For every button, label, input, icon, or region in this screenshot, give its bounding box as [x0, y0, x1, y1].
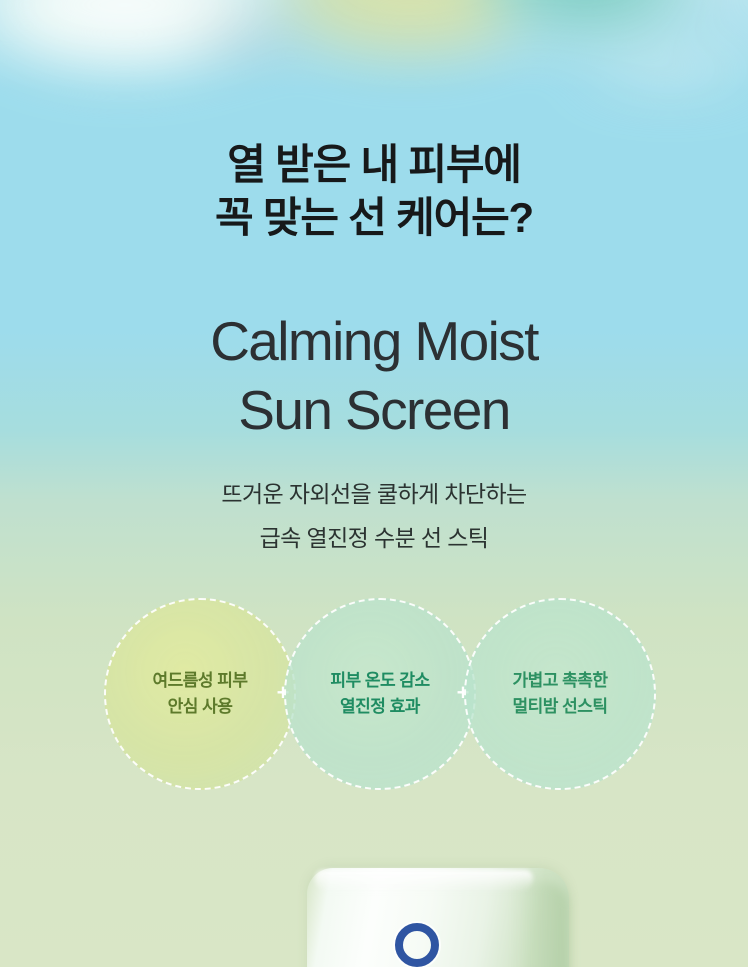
cap-highlight: [315, 870, 533, 892]
product-name: Calming Moist Sun Screen: [0, 307, 748, 445]
haze-olive-blob: [270, 0, 550, 60]
product-image: [307, 868, 569, 967]
benefit-2-line-2: 열진정 효과: [330, 694, 429, 720]
subtitle-line-2: 급속 열진정 수분 선 스틱: [0, 516, 748, 560]
benefit-1-line-2: 안심 사용: [152, 694, 247, 720]
headline: 열 받은 내 피부에 꼭 맞는 선 케어는?: [0, 138, 748, 244]
haze-teal-blob: [470, 0, 700, 40]
benefit-circle-2: 피부 온도 감소 열진정 효과: [284, 598, 476, 790]
product-name-line-2: Sun Screen: [0, 376, 748, 445]
benefit-circle-2-text: 피부 온도 감소 열진정 효과: [330, 668, 429, 720]
headline-line-1: 열 받은 내 피부에: [0, 138, 748, 191]
background-haze: [0, 0, 748, 150]
benefit-1-line-1: 여드름성 피부: [152, 668, 247, 694]
haze-grey-blob: [170, 10, 320, 60]
benefit-circle-1-text: 여드름성 피부 안심 사용: [152, 668, 247, 720]
cap-shadow: [515, 882, 569, 967]
benefit-3-line-2: 멀티밤 선스틱: [512, 694, 607, 720]
benefit-circles: 여드름성 피부 안심 사용 + 피부 온도 감소 열진정 효과 + 가볍고 촉촉…: [0, 598, 748, 798]
benefit-circle-3-text: 가볍고 촉촉한 멀티밤 선스틱: [512, 668, 607, 720]
benefit-circle-3: 가볍고 촉촉한 멀티밤 선스틱: [464, 598, 656, 790]
haze-white-blob: [0, 0, 290, 80]
promo-banner: 열 받은 내 피부에 꼭 맞는 선 케어는? Calming Moist Sun…: [0, 0, 748, 967]
subtitle: 뜨거운 자외선을 쿨하게 차단하는 급속 열진정 수분 선 스틱: [0, 472, 748, 560]
sun-stick-cap: [307, 868, 569, 967]
headline-line-2: 꼭 맞는 선 케어는?: [0, 191, 748, 244]
benefit-circle-1: 여드름성 피부 안심 사용: [104, 598, 296, 790]
benefit-3-line-1: 가볍고 촉촉한: [512, 668, 607, 694]
subtitle-line-1: 뜨거운 자외선을 쿨하게 차단하는: [0, 472, 748, 516]
product-name-line-1: Calming Moist: [0, 307, 748, 376]
benefit-2-line-1: 피부 온도 감소: [330, 668, 429, 694]
haze-sheen-blob: [560, 40, 748, 100]
brand-ring-icon: [395, 923, 439, 967]
